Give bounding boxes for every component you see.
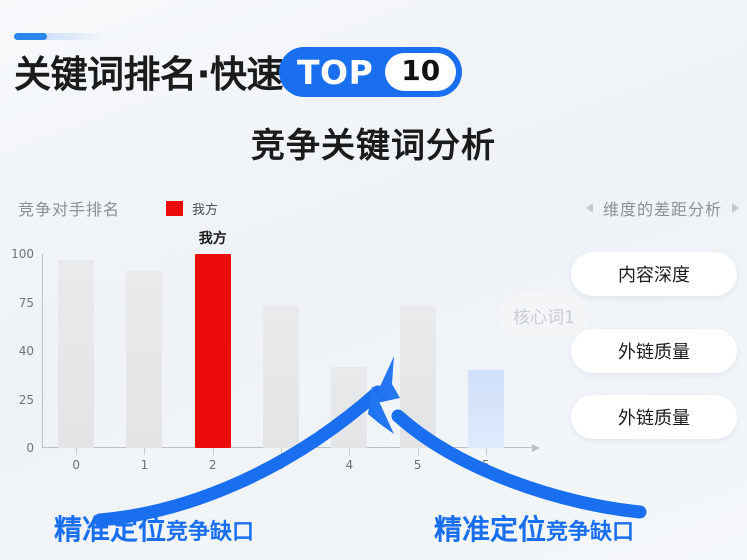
- bar-slot[interactable]: [452, 254, 520, 448]
- x-axis-tickmark: [144, 448, 145, 455]
- y-axis-tick: 75: [19, 296, 34, 310]
- panel-title: 维度的差距分析: [603, 196, 722, 220]
- footer-left-strong: 精准定位: [54, 508, 166, 548]
- triangle-right-icon[interactable]: [732, 203, 739, 213]
- bar-0-gray[interactable]: [58, 260, 94, 448]
- footer-left: 精准定位 竞争缺口: [54, 508, 254, 548]
- x-axis-label: 2: [179, 458, 247, 472]
- dimension-pill-2[interactable]: 外链质量: [571, 395, 737, 439]
- y-axis-tick: 100: [11, 247, 34, 261]
- x-axis-label: 5: [452, 458, 520, 472]
- bar-2-mine[interactable]: [195, 254, 231, 448]
- panel-header: 维度的差距分析: [586, 196, 739, 220]
- x-axis-label: 0: [42, 458, 110, 472]
- x-axis-label: 1: [110, 458, 178, 472]
- bar-series: 我方: [42, 254, 520, 448]
- bar-slot[interactable]: [247, 254, 315, 448]
- bar-5-blue[interactable]: [468, 370, 504, 448]
- x-axis-tickmark: [418, 448, 419, 455]
- ghost-pill-core-keyword: 核心词1: [497, 294, 591, 337]
- headline: 关键词排名·快速: [14, 48, 283, 100]
- bar-slot[interactable]: [42, 254, 110, 448]
- bar-slot[interactable]: [383, 254, 451, 448]
- footer-left-weak: 竞争缺口: [166, 514, 254, 546]
- y-axis-tick: 40: [19, 344, 34, 358]
- x-axis-label: 4: [315, 458, 383, 472]
- x-axis-label: 5: [383, 458, 451, 472]
- x-axis-arrow-icon: [532, 444, 540, 452]
- top-badge-label: TOP: [297, 56, 373, 89]
- dimension-pill-1[interactable]: 外链质量: [571, 329, 737, 373]
- x-axis-labels: 0123455: [42, 458, 520, 472]
- progress-bar-fill: [14, 33, 47, 40]
- page-subtitle: 竞争关键词分析: [0, 118, 747, 167]
- y-axis-tick: 25: [19, 393, 34, 407]
- x-axis-tickmark: [486, 448, 487, 455]
- legend-swatch-mine: [166, 201, 183, 216]
- x-axis-tickmark: [281, 448, 282, 455]
- x-axis-label: 3: [247, 458, 315, 472]
- top-badge: TOP 10: [279, 47, 462, 97]
- dimension-pill-0[interactable]: 内容深度: [571, 252, 737, 296]
- bar-3-gray[interactable]: [263, 306, 299, 448]
- bar-4-gray[interactable]: [331, 367, 367, 448]
- triangle-left-icon[interactable]: [586, 203, 593, 213]
- bar-1-gray[interactable]: [126, 271, 162, 448]
- x-axis-tickmarks: [42, 448, 520, 455]
- top-badge-count: 10: [385, 53, 456, 91]
- footer-right-strong: 精准定位: [434, 508, 546, 548]
- progress-bar-track: [14, 33, 106, 40]
- x-axis-tickmark: [349, 448, 350, 455]
- bar-slot[interactable]: 我方: [179, 254, 247, 448]
- x-axis-tickmark: [213, 448, 214, 455]
- chart-header: 竞争对手排名 我方: [18, 196, 218, 220]
- chart-title: 竞争对手排名: [18, 196, 120, 220]
- bar-value-label: 我方: [199, 228, 227, 248]
- footer-right: 精准定位 竞争缺口: [434, 508, 634, 548]
- bar-slot[interactable]: [110, 254, 178, 448]
- y-axis-tick: 0: [26, 441, 34, 455]
- footer-right-weak: 竞争缺口: [546, 514, 634, 546]
- bar-chart: 1007540250 我方 0123455: [42, 254, 520, 448]
- chart-legend: 我方: [166, 199, 218, 218]
- legend-label-mine: 我方: [192, 199, 218, 218]
- headline-main-text: 关键词排名·快速: [14, 56, 283, 93]
- x-axis-tickmark: [76, 448, 77, 455]
- bar-5-gray[interactable]: [400, 306, 436, 448]
- bar-slot[interactable]: [315, 254, 383, 448]
